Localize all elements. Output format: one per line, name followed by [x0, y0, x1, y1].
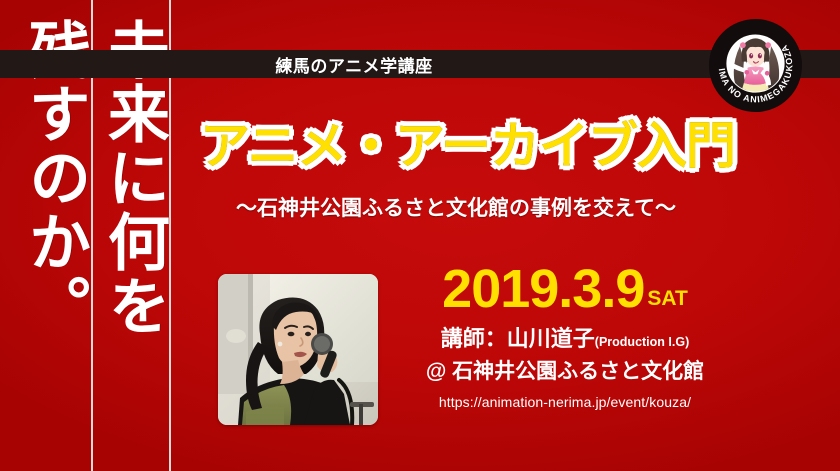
page-subtitle: 〜石神井公園ふるさと文化館の事例を交えて〜	[200, 192, 712, 222]
page-title: アニメ・アーカイブ入門	[200, 106, 712, 178]
speaker-photo-image	[218, 274, 378, 425]
lecturer-name: 山川道子	[507, 326, 595, 351]
event-url[interactable]: https://animation-nerima.jp/event/kouza/	[400, 394, 730, 410]
animegakukoza-badge[interactable]: NERIMA NO ANIMEGAKUKOZA	[707, 17, 804, 114]
speaker-photo	[218, 274, 378, 425]
event-day-of-week: SAT	[647, 288, 687, 309]
event-details: 2019.3.9 SAT 講師：山川道子(Production I.G) @ 石…	[400, 262, 730, 410]
event-date: 2019.3.9	[442, 262, 644, 316]
lecturer-label: 講師：	[441, 326, 507, 351]
lecturer-line: 講師：山川道子(Production I.G)	[400, 327, 730, 351]
badge-graphic: NERIMA NO ANIMEGAKUKOZA	[707, 17, 804, 114]
event-poster: 未来に何を 残すのか。 練馬のアニメ学講座 アニメ・アーカイブ入門 〜石神井公園…	[0, 0, 840, 471]
event-date-line: 2019.3.9 SAT	[400, 262, 730, 316]
lecturer-org: (Production I.G)	[595, 335, 689, 349]
venue-line: @ 石神井公園ふるさと文化館	[400, 360, 730, 383]
